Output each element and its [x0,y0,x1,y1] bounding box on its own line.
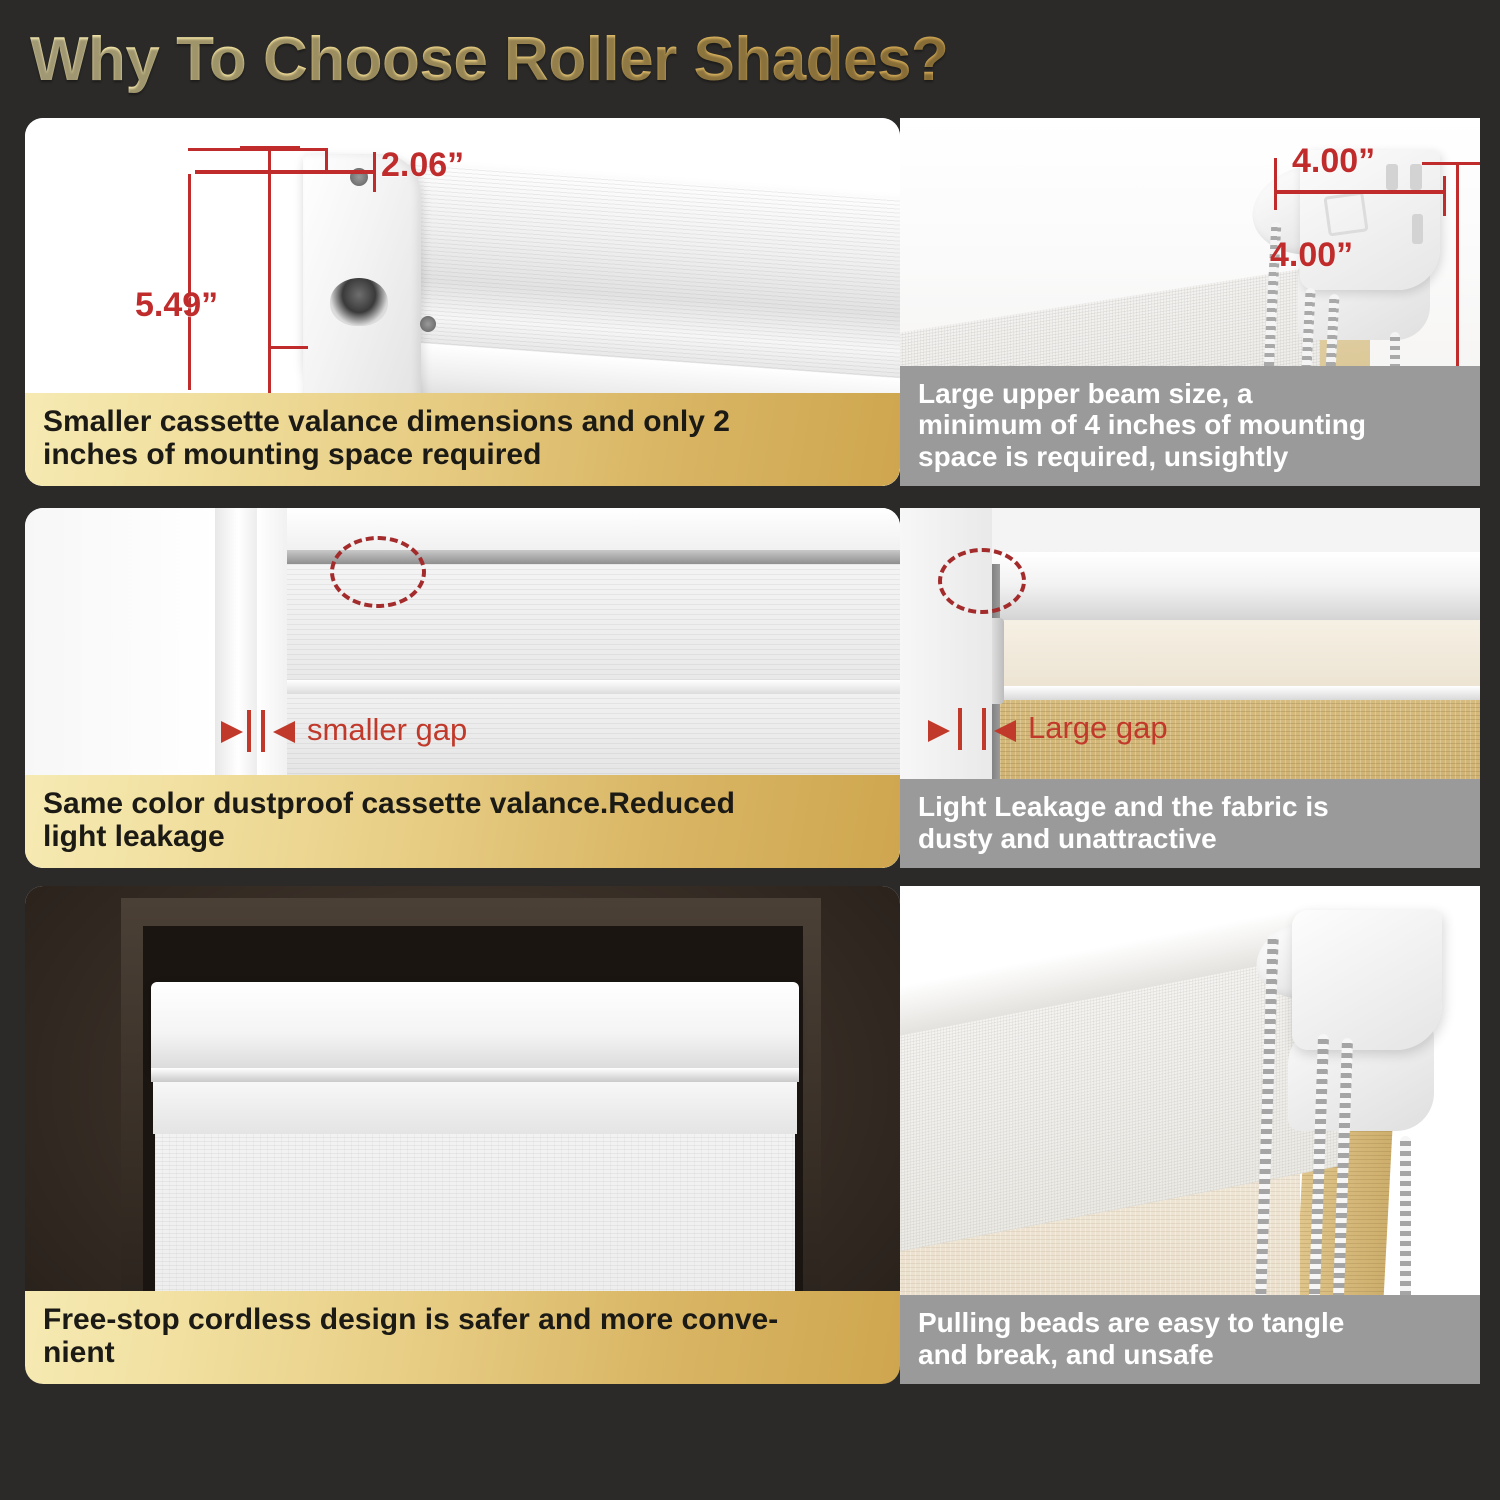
dimension-cap-top [1422,162,1480,165]
dimension-line-height [1456,162,1459,392]
caption-pulling-beads: Pulling beads are easy to tangle and bre… [900,1295,1480,1384]
dimension-arm-mid [268,346,308,349]
dimension-line-width [195,170,375,174]
caption-dustproof-valance: Same color dustproof cassette valance.Re… [25,775,900,868]
gap-tick-right [982,708,986,750]
highlight-circle-icon [330,536,426,608]
caption-line-1: Smaller cassette valance dimensions and … [43,405,884,439]
caption-line-1: Light Leakage and the fabric is [918,791,1464,822]
free-stop-mechanism-icon [330,278,388,326]
dimension-tick-b [373,152,376,192]
caption-line-2: and break, and unsafe [918,1339,1464,1370]
panel-large-upper-beam: 4.00” 4.00” Large upper beam size, a min… [900,118,1480,486]
caption-smaller-cassette: Smaller cassette valance dimensions and … [25,393,900,486]
gap-tick-left [247,710,251,752]
caption-line-1: Pulling beads are easy to tangle [918,1307,1464,1338]
dimension-tick-left [1274,158,1277,210]
highlight-circle-icon [938,548,1026,614]
dimension-label-height: 5.49” [135,286,218,325]
caption-line-2: minimum of 4 inches of mounting [918,409,1464,440]
arrow-right-icon [221,721,243,743]
gap-tick-left [958,708,962,750]
caption-line-2: nient [43,1336,884,1370]
caption-line-2: light leakage [43,820,884,854]
dimension-label-height: 4.00” [1270,236,1353,275]
gap-label: smaller gap [307,712,467,748]
bracket-clip-icon [1323,191,1368,236]
caption-line-2: dusty and unattractive [918,823,1464,854]
caption-line-1: Same color dustproof cassette valance.Re… [43,787,884,821]
gap-label: Large gap [1028,710,1168,746]
dimension-line-vertical-left [188,174,191,390]
panel-large-gap: Large gap Light Leakage and the fabric i… [900,508,1480,868]
dimension-tick-right [1443,176,1446,216]
arrow-left-icon [994,720,1016,742]
dimension-line-width [1274,190,1446,194]
arrow-right-icon [928,720,950,742]
caption-light-leakage: Light Leakage and the fabric is dusty an… [900,779,1480,868]
panel-smaller-gap: smaller gap Same color dustproof cassett… [25,508,900,868]
panel-smaller-cassette: 2.06” 5.49” Smaller cassette valance dim… [25,118,900,486]
caption-line-3: space is required, unsightly [918,441,1464,472]
dimension-label-width: 4.00” [1292,142,1375,181]
caption-cordless-design: Free-stop cordless design is safer and m… [25,1291,900,1384]
dimension-label-width: 2.06” [381,146,464,185]
panel-cordless-design: Free-stop cordless design is safer and m… [25,886,900,1384]
caption-line-1: Large upper beam size, a [918,378,1464,409]
caption-line-2: inches of mounting space required [43,438,884,472]
page-title: Why To Choose Roller Shades? [30,24,948,95]
arrow-left-icon [273,721,295,743]
dimension-cap-top [240,146,300,149]
gap-tick-right [261,710,265,752]
panel-pulling-beads: Pulling beads are easy to tangle and bre… [900,886,1480,1384]
caption-large-upper-beam: Large upper beam size, a minimum of 4 in… [900,366,1480,486]
caption-line-1: Free-stop cordless design is safer and m… [43,1303,884,1337]
